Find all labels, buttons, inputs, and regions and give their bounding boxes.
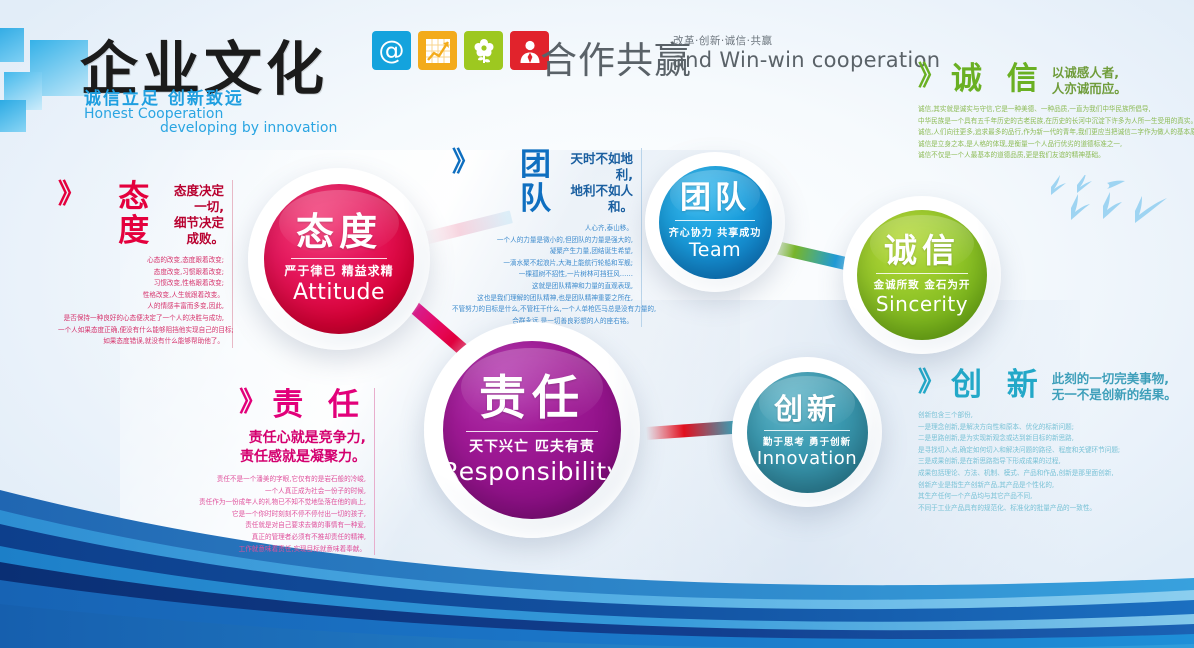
chevron-icon: 》 — [239, 388, 265, 418]
body-line: 诚信是立身之本,是人格的体现,是衡量一个人品行优劣的道德标准之一, — [918, 139, 1188, 151]
bubble-innovation[interactable]: 创新 勤于思考 勇于创新 Innovation — [732, 357, 882, 507]
at-glyph: @ — [379, 38, 405, 64]
body-line: 创新包含三个部份, — [918, 410, 1190, 422]
innovation-divider — [764, 430, 850, 431]
sincerity-body: 诚信,其实就是诚实与守信,它是一种美德、一种品质,一直为我们中华民族所倡导, 中… — [918, 104, 1188, 162]
attitude-disc: 态度 严于律已 精益求精 Attitude — [264, 184, 414, 334]
attitude-divider — [291, 258, 387, 259]
body-line: 三是成果创新,是在新思路指导下形成成果的过程, — [918, 456, 1190, 468]
bubble-team[interactable]: 团队 齐心协力 共享成功 Team — [645, 152, 785, 292]
cooperation-title-en: and Win-win cooperation — [672, 48, 940, 72]
body-line: 人心齐,泰山移。 — [452, 223, 633, 235]
flower-icon — [464, 31, 503, 70]
body-line: 如果态度错误,就没有什么能够帮助他了。 — [58, 336, 224, 348]
sincerity-disc: 诚信 金诚所致 金石为开 Sincerity — [857, 210, 987, 340]
sincerity-disc-en: Sincerity — [876, 292, 968, 316]
text-block-sincerity: 》 诚 信 以诚感人者, 人亦诚而应。 诚信,其实就是诚实与守信,它是一种美德、… — [918, 62, 1188, 162]
body-line: 责任作为一份成年人的礼物已不知不觉地坠落在他的肩上, — [190, 497, 366, 509]
team-disc-motto: 齐心协力 共享成功 — [669, 224, 761, 239]
chevron-icon: 》 — [918, 62, 944, 92]
body-line: 性格改变,人生就跟着改变。 — [58, 290, 224, 302]
body-line: 其生产任何一个产品均与其它产品不同, — [918, 491, 1190, 503]
innovation-disc: 创新 勤于思考 勇于创新 Innovation — [747, 372, 868, 493]
team-divider — [675, 220, 755, 221]
corporate-culture-poster: 企业文化 诚信立足 创新致远 Honest Cooperation develo… — [0, 0, 1194, 648]
innovation-disc-en: Innovation — [757, 448, 857, 469]
body-line: 工作就意味着责任,实现目标就意味着奉献。 — [190, 544, 366, 556]
logo-square-1 — [0, 28, 24, 62]
body-line: 它是一个你时时刻刻不停不停付出一切的孩子, — [190, 509, 366, 521]
attitude-body: 心态的改变,态度跟着改变; 态度改变,习惯跟着改变; 习惯改变,性格跟着改变; … — [58, 255, 224, 348]
chevron-icon: 》 — [58, 180, 84, 210]
text-block-innovation: 》 创 新 此刻的一切完美事物, 无一不是创新的结果。 创新包含三个部份, 一是… — [918, 368, 1190, 514]
innovation-slogan-line2: 无一不是创新的结果。 — [1052, 387, 1177, 403]
birds-decoration — [1045, 175, 1194, 260]
attitude-keyword: 态 度 — [91, 180, 156, 248]
team-disc-en: Team — [689, 239, 741, 261]
team-heading: 》 团 队 天时不如地利, 地利不如人和。 — [452, 148, 633, 216]
header-icon-row: @ — [372, 31, 549, 70]
innovation-heading: 》 创 新 此刻的一切完美事物, 无一不是创新的结果。 — [918, 368, 1190, 403]
body-line: 责任就是对自己要求去做的事情有一种爱, — [190, 520, 366, 532]
body-line: 创新产业是指生产创新产品,其产品是个性化的, — [918, 480, 1190, 492]
attitude-slogan: 态度决定一切, 细节决定成败。 — [163, 180, 224, 247]
sincerity-heading: 》 诚 信 以诚感人者, 人亦诚而应。 — [918, 62, 1188, 97]
sincerity-keyword: 诚 信 — [951, 62, 1045, 96]
team-disc: 团队 齐心协力 共享成功 Team — [659, 166, 772, 279]
sincerity-slogan-line1: 以诚感人者, — [1052, 65, 1127, 81]
body-line: 人的情感丰富而多变,因此, — [58, 301, 224, 313]
body-line: 一个人的力量是微小的,但团队的力量是强大的, — [452, 235, 633, 247]
body-line: 心态的改变,态度跟着改变; — [58, 255, 224, 267]
body-line: 诚信不仅是一个人最基本的道德品质,更是我们友谊的精神基础。 — [918, 150, 1188, 162]
responsibility-keyword: 责 任 — [272, 388, 366, 422]
bubble-sincerity[interactable]: 诚信 金诚所致 金石为开 Sincerity — [843, 196, 1001, 354]
body-line: 中华民族是一个具有五千年历史的古老民族,在历史的长河中沉淀下许多为人所一生受用的… — [918, 116, 1188, 128]
body-line: 凝聚产生力量,团结诞生希望, — [452, 246, 633, 258]
body-line: 不同于工业产品具有的规范化、标准化的批量产品的一致性。 — [918, 503, 1190, 515]
innovation-disc-motto: 勤于思考 勇于创新 — [763, 434, 851, 448]
body-line: 真正的管理者必须有不推却责任的精神, — [190, 532, 366, 544]
body-line: 习惯改变,性格跟着改变; — [58, 278, 224, 290]
innovation-slogan: 此刻的一切完美事物, 无一不是创新的结果。 — [1052, 368, 1177, 403]
responsibility-slogan-line1: 责任心就是竞争力, — [190, 429, 366, 448]
body-line: 成果包括理论、方法、机制、模式、产品和作品,创新是那里面创新, — [918, 468, 1190, 480]
responsibility-disc-motto: 天下兴亡 匹夫有责 — [469, 436, 595, 456]
sincerity-disc-motto: 金诚所致 金石为开 — [874, 277, 971, 292]
attitude-disc-cn: 态度 — [296, 213, 382, 251]
body-line: 一是理念创新,是解决方向性和原本、优化的标新问题; — [918, 422, 1190, 434]
chart-icon — [418, 31, 457, 70]
team-slogan-line2: 地利不如人和。 — [565, 183, 633, 215]
innovation-keyword: 创 新 — [951, 368, 1045, 402]
responsibility-slogan: 责任心就是竞争力, 责任感就是凝聚力。 — [190, 426, 366, 467]
text-block-responsibility: 》 责 任 责任心就是竞争力, 责任感就是凝聚力。 责任不是一个潘美的字眼,它仅… — [190, 388, 375, 555]
responsibility-disc-cn: 责任 — [479, 375, 585, 422]
at-icon: @ — [372, 31, 411, 70]
chevron-icon: 》 — [452, 148, 478, 178]
responsibility-slogan-line2: 责任感就是凝聚力。 — [190, 448, 366, 467]
cooperation-title-cn: 合作共赢 — [540, 30, 692, 84]
innovation-slogan-line1: 此刻的一切完美事物, — [1052, 371, 1177, 387]
body-line: 不管努力的目标是什么,不管枉干什么,一个人单枪匹马总是没有力量的, — [452, 304, 633, 316]
body-line: 诚信,人们向往更多,追求最多的品行,作为新一代的青年,我们更应当把诚信二字作为做… — [918, 127, 1188, 139]
text-block-team: 》 团 队 天时不如地利, 地利不如人和。 人心齐,泰山移。 一个人的力量是微小… — [452, 148, 642, 327]
body-line: 这就是团队精神和力量的直观表现, — [452, 281, 633, 293]
team-body: 人心齐,泰山移。 一个人的力量是微小的,但团队的力量是强大的, 凝聚产生力量,团… — [452, 223, 633, 327]
body-line: 是寻找切入点,确定如何切入和解决问题的路径、程度和关键环节问题; — [918, 445, 1190, 457]
sincerity-disc-cn: 诚信 — [884, 234, 960, 267]
sincerity-slogan: 以诚感人者, 人亦诚而应。 — [1052, 62, 1127, 97]
attitude-disc-motto: 严于律已 精益求精 — [284, 262, 393, 279]
responsibility-divider — [466, 431, 598, 432]
team-keyword: 团 队 — [485, 148, 558, 216]
attitude-slogan-line1: 态度决定一切, — [163, 183, 224, 215]
cooperation-tags: 改革·创新·诚信·共赢 — [673, 33, 773, 48]
body-line: 是否保持一种良好的心态便决定了一个人的决胜与成功, — [58, 313, 224, 325]
bubble-attitude[interactable]: 态度 严于律已 精益求精 Attitude — [248, 168, 430, 350]
logo-square-4 — [0, 100, 26, 132]
responsibility-disc: 责任 天下兴亡 匹夫有责 Responsibility — [443, 341, 621, 519]
bubble-responsibility[interactable]: 责任 天下兴亡 匹夫有责 Responsibility — [424, 322, 640, 538]
text-block-attitude: 》 态 度 态度决定一切, 细节决定成败。 心态的改变,态度跟着改变; 态度改变… — [58, 180, 233, 348]
team-disc-cn: 团队 — [680, 183, 750, 214]
responsibility-heading: 》 责 任 — [190, 388, 366, 422]
sincerity-divider — [876, 273, 968, 274]
innovation-body: 创新包含三个部份, 一是理念创新,是解决方向性和原本、优化的标新问题; 二是思路… — [918, 410, 1190, 514]
attitude-slogan-line2: 细节决定成败。 — [163, 215, 224, 247]
body-line: 诚信,其实就是诚实与守信,它是一种美德、一种品质,一直为我们中华民族所倡导, — [918, 104, 1188, 116]
body-line: 一滴水聚不起浪片,大海上能航行轮船和军舰; — [452, 258, 633, 270]
responsibility-disc-en: Responsibility — [443, 457, 621, 486]
team-slogan-line1: 天时不如地利, — [565, 151, 633, 183]
body-line: 责任不是一个潘美的字眼,它仅有的是岩石般的冷峻, — [190, 474, 366, 486]
responsibility-body: 责任不是一个潘美的字眼,它仅有的是岩石般的冷峻, 一个人真正成为社会一份子的时候… — [190, 474, 366, 555]
attitude-heading: 》 态 度 态度决定一切, 细节决定成败。 — [58, 180, 224, 248]
chevron-icon: 》 — [918, 368, 944, 398]
body-line: 二是思路创新,是为实现新观念或达到新目标的新思路, — [918, 433, 1190, 445]
sincerity-slogan-line2: 人亦诚而应。 — [1052, 81, 1127, 97]
body-line: 这也是我们理解的团队精神,也是团队精神重要之所在, — [452, 293, 633, 305]
team-slogan: 天时不如地利, 地利不如人和。 — [565, 148, 633, 215]
page-subtitle-en2: developing by innovation — [160, 120, 337, 136]
body-line: 态度改变,习惯跟着改变; — [58, 267, 224, 279]
attitude-disc-en: Attitude — [293, 280, 385, 305]
innovation-disc-cn: 创新 — [774, 395, 840, 424]
body-line: 一个人真正成为社会一份子的时候, — [190, 486, 366, 498]
body-line: 一个人如果态度正确,便没有什么能够阻挡他实现自己的目标; — [58, 325, 224, 337]
body-line: 一棵孤树不招性,一片树林可挡狂风…… — [452, 269, 633, 281]
